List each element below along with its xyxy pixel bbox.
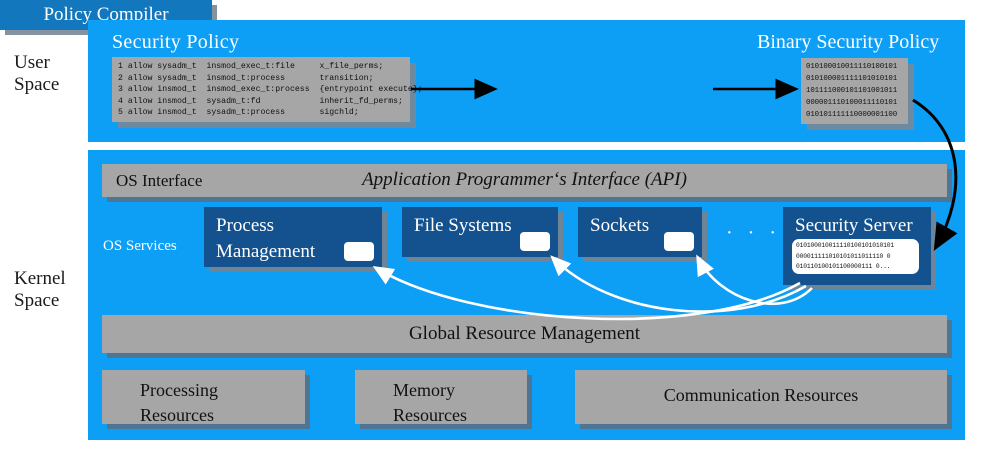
security-policy-code-box: 1 allow sysadm_t insmod_exec_t:file x_fi… [112, 57, 410, 122]
resource-label-processing-line1: Processing [140, 378, 218, 403]
global-resource-management-box: Global Resource Management [102, 315, 947, 353]
diagram-root: User Space Kernel Space Security Policy … [0, 0, 1002, 450]
binary-security-policy-box: 010100010011110100101 010100001111101010… [801, 58, 908, 124]
os-services-label: OS Services [103, 238, 177, 255]
os-interface-box: OS Interface Application Programmer‘s In… [102, 164, 947, 197]
service-box-sockets[interactable]: Sockets [578, 207, 702, 257]
resource-label-processing-line2: Resources [140, 403, 218, 428]
resource-box-communication: Communication Resources [575, 370, 947, 424]
service-box-file-systems[interactable]: File Systems [402, 207, 558, 257]
security-policy-title: Security Policy [112, 31, 239, 54]
service-label-security-server: Security Server [795, 213, 923, 239]
resource-label-memory-line2: Resources [393, 403, 467, 428]
resource-label-memory-line1: Memory [393, 378, 467, 403]
kernel-space-label: Kernel Space [14, 268, 66, 312]
hook-icon-file-systems [520, 232, 550, 251]
resource-label-processing: Processing Resources [140, 378, 218, 428]
hook-icon-process-management [344, 242, 374, 261]
security-server-cache-callout: 010100010011110100101010101 000011111010… [792, 239, 919, 274]
user-space-label-line1: User [14, 52, 59, 74]
resource-box-memory: Memory Resources [355, 370, 527, 424]
service-box-security-server[interactable]: Security Server 010100010011110100101010… [783, 207, 931, 285]
api-label: Application Programmer‘s Interface (API) [102, 169, 947, 191]
resource-box-processing: Processing Resources [102, 370, 305, 424]
services-ellipsis: · · · [726, 222, 781, 245]
resource-label-communication: Communication Resources [575, 383, 947, 408]
user-space-label: User Space [14, 52, 59, 96]
kernel-space-label-line1: Kernel [14, 268, 66, 290]
binary-security-policy-text: 010100010011110100101 010100001111101010… [801, 58, 908, 121]
user-space-label-line2: Space [14, 74, 59, 96]
global-resource-management-label: Global Resource Management [409, 323, 640, 345]
security-server-cache-text: 010100010011110100101010101 000011111010… [792, 239, 919, 273]
hook-icon-sockets [664, 232, 694, 251]
security-policy-code-text: 1 allow sysadm_t insmod_exec_t:file x_fi… [112, 57, 410, 119]
kernel-space-label-line2: Space [14, 290, 66, 312]
binary-security-policy-title: Binary Security Policy [757, 31, 939, 54]
resource-label-memory: Memory Resources [393, 378, 467, 428]
service-box-process-management[interactable]: Process Management [204, 207, 382, 267]
